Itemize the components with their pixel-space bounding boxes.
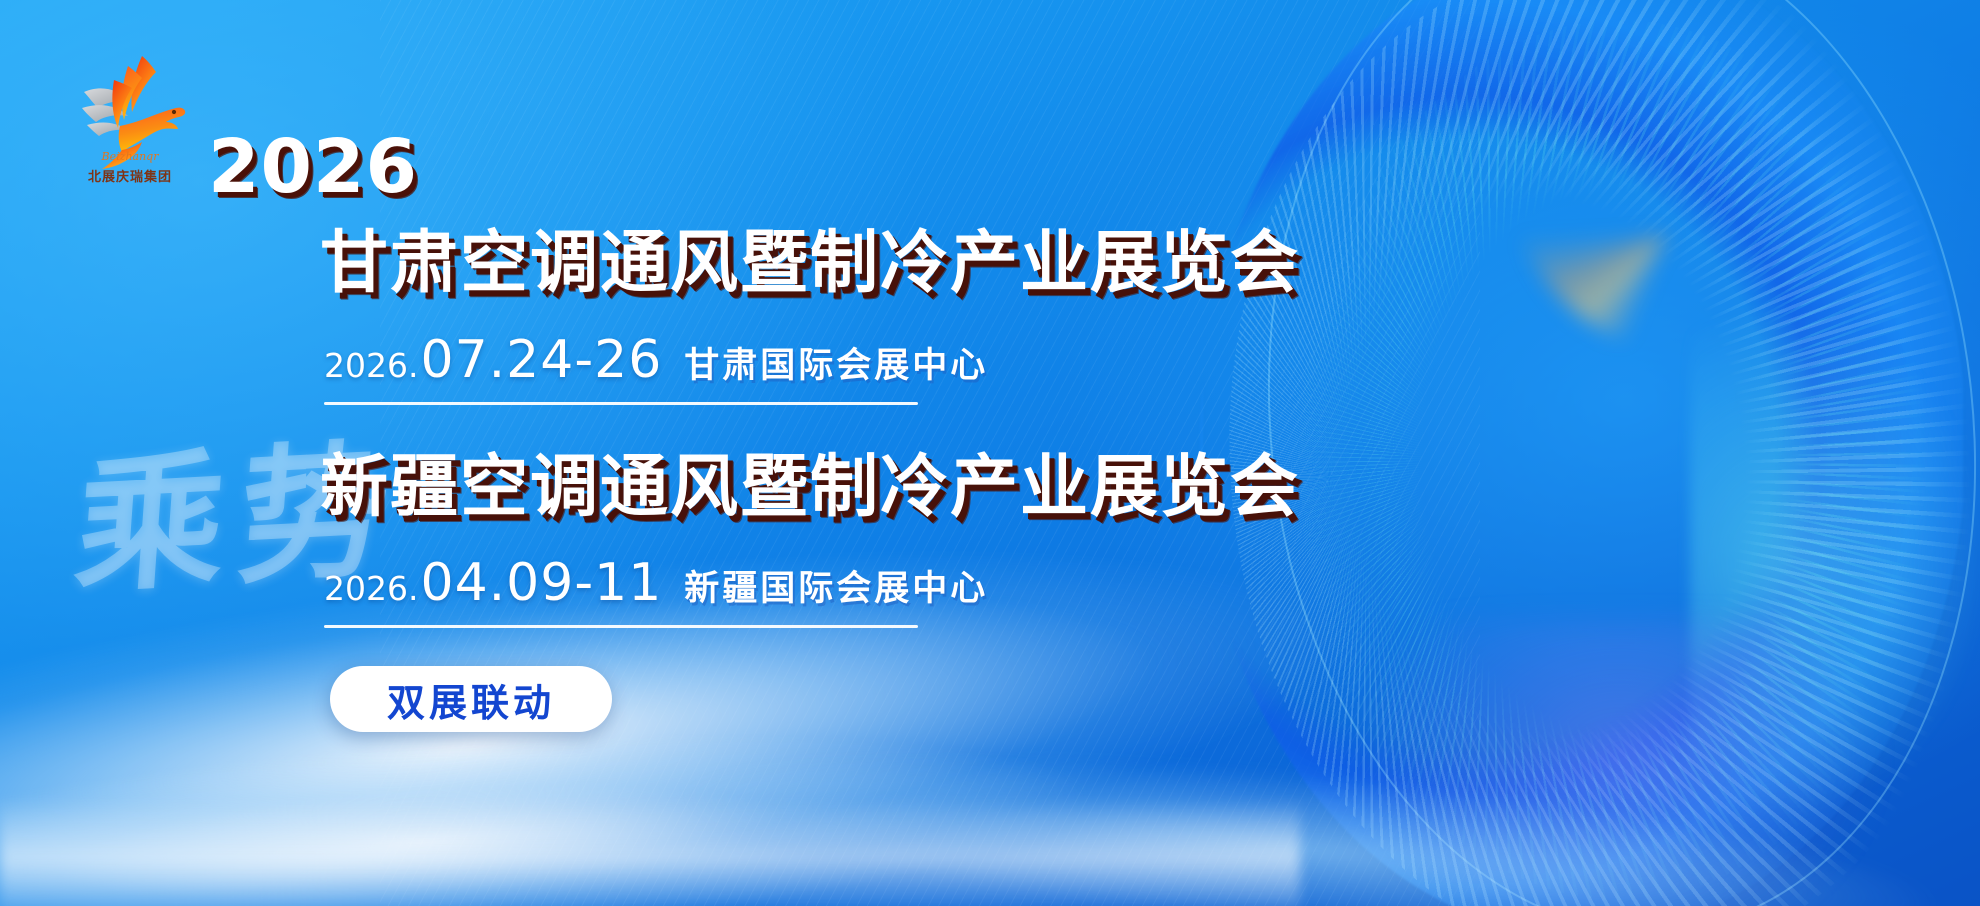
dual-exhibition-badge[interactable]: 双展联动 bbox=[330, 666, 612, 732]
divider-rule-gansu bbox=[324, 402, 918, 405]
event-year-gansu: 2026. bbox=[324, 346, 418, 385]
divider-rule-xinjiang bbox=[324, 625, 918, 628]
brand-chinese-text: 北展庆瑞集团 bbox=[70, 166, 190, 185]
event-title-xinjiang: 新疆空调通风暨制冷产业展览会 bbox=[320, 452, 1300, 524]
event-dates-gansu: 07.24-26 bbox=[420, 330, 662, 390]
event-meta-gansu: 2026. 07.24-26 甘肃国际会展中心 bbox=[324, 330, 988, 390]
banner-content: 甘肃空调通风暨制冷产业展览会 2026. 07.24-26 甘肃国际会展中心 新… bbox=[320, 0, 1520, 906]
event-meta-xinjiang: 2026. 04.09-11 新疆国际会展中心 bbox=[324, 553, 988, 613]
gold-highlight-glow bbox=[1500, 0, 1920, 360]
cyan-glow bbox=[1690, 300, 1980, 820]
event-venue-xinjiang: 新疆国际会展中心 bbox=[684, 560, 988, 611]
event-year-xinjiang: 2026. bbox=[324, 569, 418, 608]
event-dates-xinjiang: 04.09-11 bbox=[420, 553, 662, 613]
brand-logo-lockup: Beizhanqr 北展庆瑞集团 2026 bbox=[60, 46, 330, 186]
event-venue-gansu: 甘肃国际会展中心 bbox=[684, 337, 988, 388]
exhibition-banner: 乘势 bbox=[0, 0, 1980, 906]
dual-exhibition-badge-label: 双展联动 bbox=[387, 672, 555, 727]
brand-english-text: Beizhanqr bbox=[70, 150, 190, 163]
event-title-gansu: 甘肃空调通风暨制冷产业展览会 bbox=[320, 228, 1300, 300]
